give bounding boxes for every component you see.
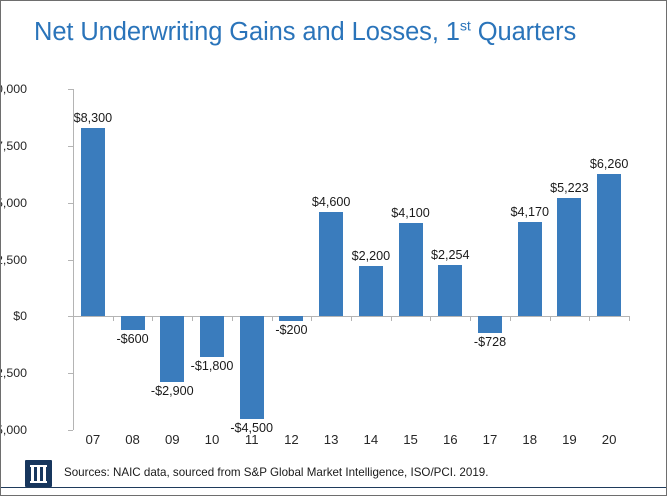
y-axis-tick-mark [68,203,73,204]
y-axis-tick-mark [68,260,73,261]
y-axis-line [73,89,74,430]
bar-value-label: $4,600 [286,195,376,209]
x-axis-tick-mark [272,316,273,321]
y-axis-tick-mark [68,146,73,147]
y-axis-tick-label: $7,500 [0,139,27,153]
x-axis-tick-label: 13 [311,432,351,447]
bar-value-label: -$2,900 [127,384,217,398]
x-axis-tick-label: 16 [430,432,470,447]
pillars-logo-icon [25,460,52,487]
chart-figure: Net Underwriting Gains and Losses, 1st Q… [0,0,667,496]
x-axis-tick-label: 14 [351,432,391,447]
bar-value-label: $2,200 [326,249,416,263]
bar [279,316,303,321]
x-axis-tick-mark [391,316,392,321]
bar-value-label: -$600 [88,332,178,346]
y-axis-tick-label: $2,500 [0,253,27,267]
x-axis-tick-mark [550,316,551,321]
x-axis-tick-mark [113,316,114,321]
y-axis-tick-mark [68,430,73,431]
x-axis-tick-mark [73,316,74,321]
bar-value-label: $6,260 [564,157,654,171]
chart-title-tail: Quarters [471,18,576,46]
x-axis-tick-label: 15 [391,432,431,447]
y-axis-tick-label: $10,000 [0,82,27,96]
bar-value-label: $4,100 [366,206,456,220]
x-axis-tick-mark [510,316,511,321]
bar-value-label: -$1,800 [167,359,257,373]
y-axis-tick-label: -$5,000 [0,423,27,437]
bar-value-label: -$728 [445,335,535,349]
x-axis-tick-label: 09 [152,432,192,447]
x-axis-tick-label: 20 [589,432,629,447]
x-axis-tick-mark [470,316,471,321]
x-axis-tick-label: 11 [232,432,272,447]
x-axis-tick-label: 12 [271,432,311,447]
y-axis-tick-mark [68,373,73,374]
x-axis-tick-mark [311,316,312,321]
x-axis-tick-mark [152,316,153,321]
x-axis-tick-mark [192,316,193,321]
chart-title-main: Net Underwriting Gains and Losses, 1 [34,18,460,46]
bar [81,128,105,317]
x-axis-tick-label: 17 [470,432,510,447]
y-axis-tick-label: $5,000 [0,196,27,210]
bar [518,222,542,317]
y-axis-tick-mark [68,89,73,90]
bar-value-label: $4,170 [485,205,575,219]
y-axis-tick-label: $0 [0,309,27,323]
bar [478,316,502,333]
footer: Sources: NAIC data, sourced from S&P Glo… [1,454,666,495]
bar-value-label: $5,223 [524,181,614,195]
bar [597,174,621,316]
bar [359,266,383,316]
bar [319,212,343,317]
x-axis-tick-mark [589,316,590,321]
bar-value-label: -$200 [246,323,336,337]
y-axis-tick-label: -$2,500 [0,366,27,380]
page-title: Net Underwriting Gains and Losses, 1st Q… [34,18,634,47]
chart-title-ordinal-suffix: st [460,19,471,35]
x-axis-tick-mark [351,316,352,321]
bar-value-label: $2,254 [405,248,495,262]
bar [438,265,462,316]
plot-area: $10,000$7,500$5,000$2,500$0-$2,500-$5,00… [73,89,629,429]
x-axis-tick-mark [232,316,233,321]
x-axis-tick-label: 08 [113,432,153,447]
footer-divider [1,487,666,488]
bar [399,223,423,316]
bar [121,316,145,330]
x-axis-tick-mark [629,316,630,321]
x-axis-tick-label: 10 [192,432,232,447]
bar-value-label: $8,300 [48,111,138,125]
x-axis-tick-mark [430,316,431,321]
x-axis-tick-label: 07 [73,432,113,447]
x-axis-tick-label: 18 [510,432,550,447]
source-note: Sources: NAIC data, sourced from S&P Glo… [64,466,488,479]
x-axis-tick-label: 19 [549,432,589,447]
bar [200,316,224,357]
